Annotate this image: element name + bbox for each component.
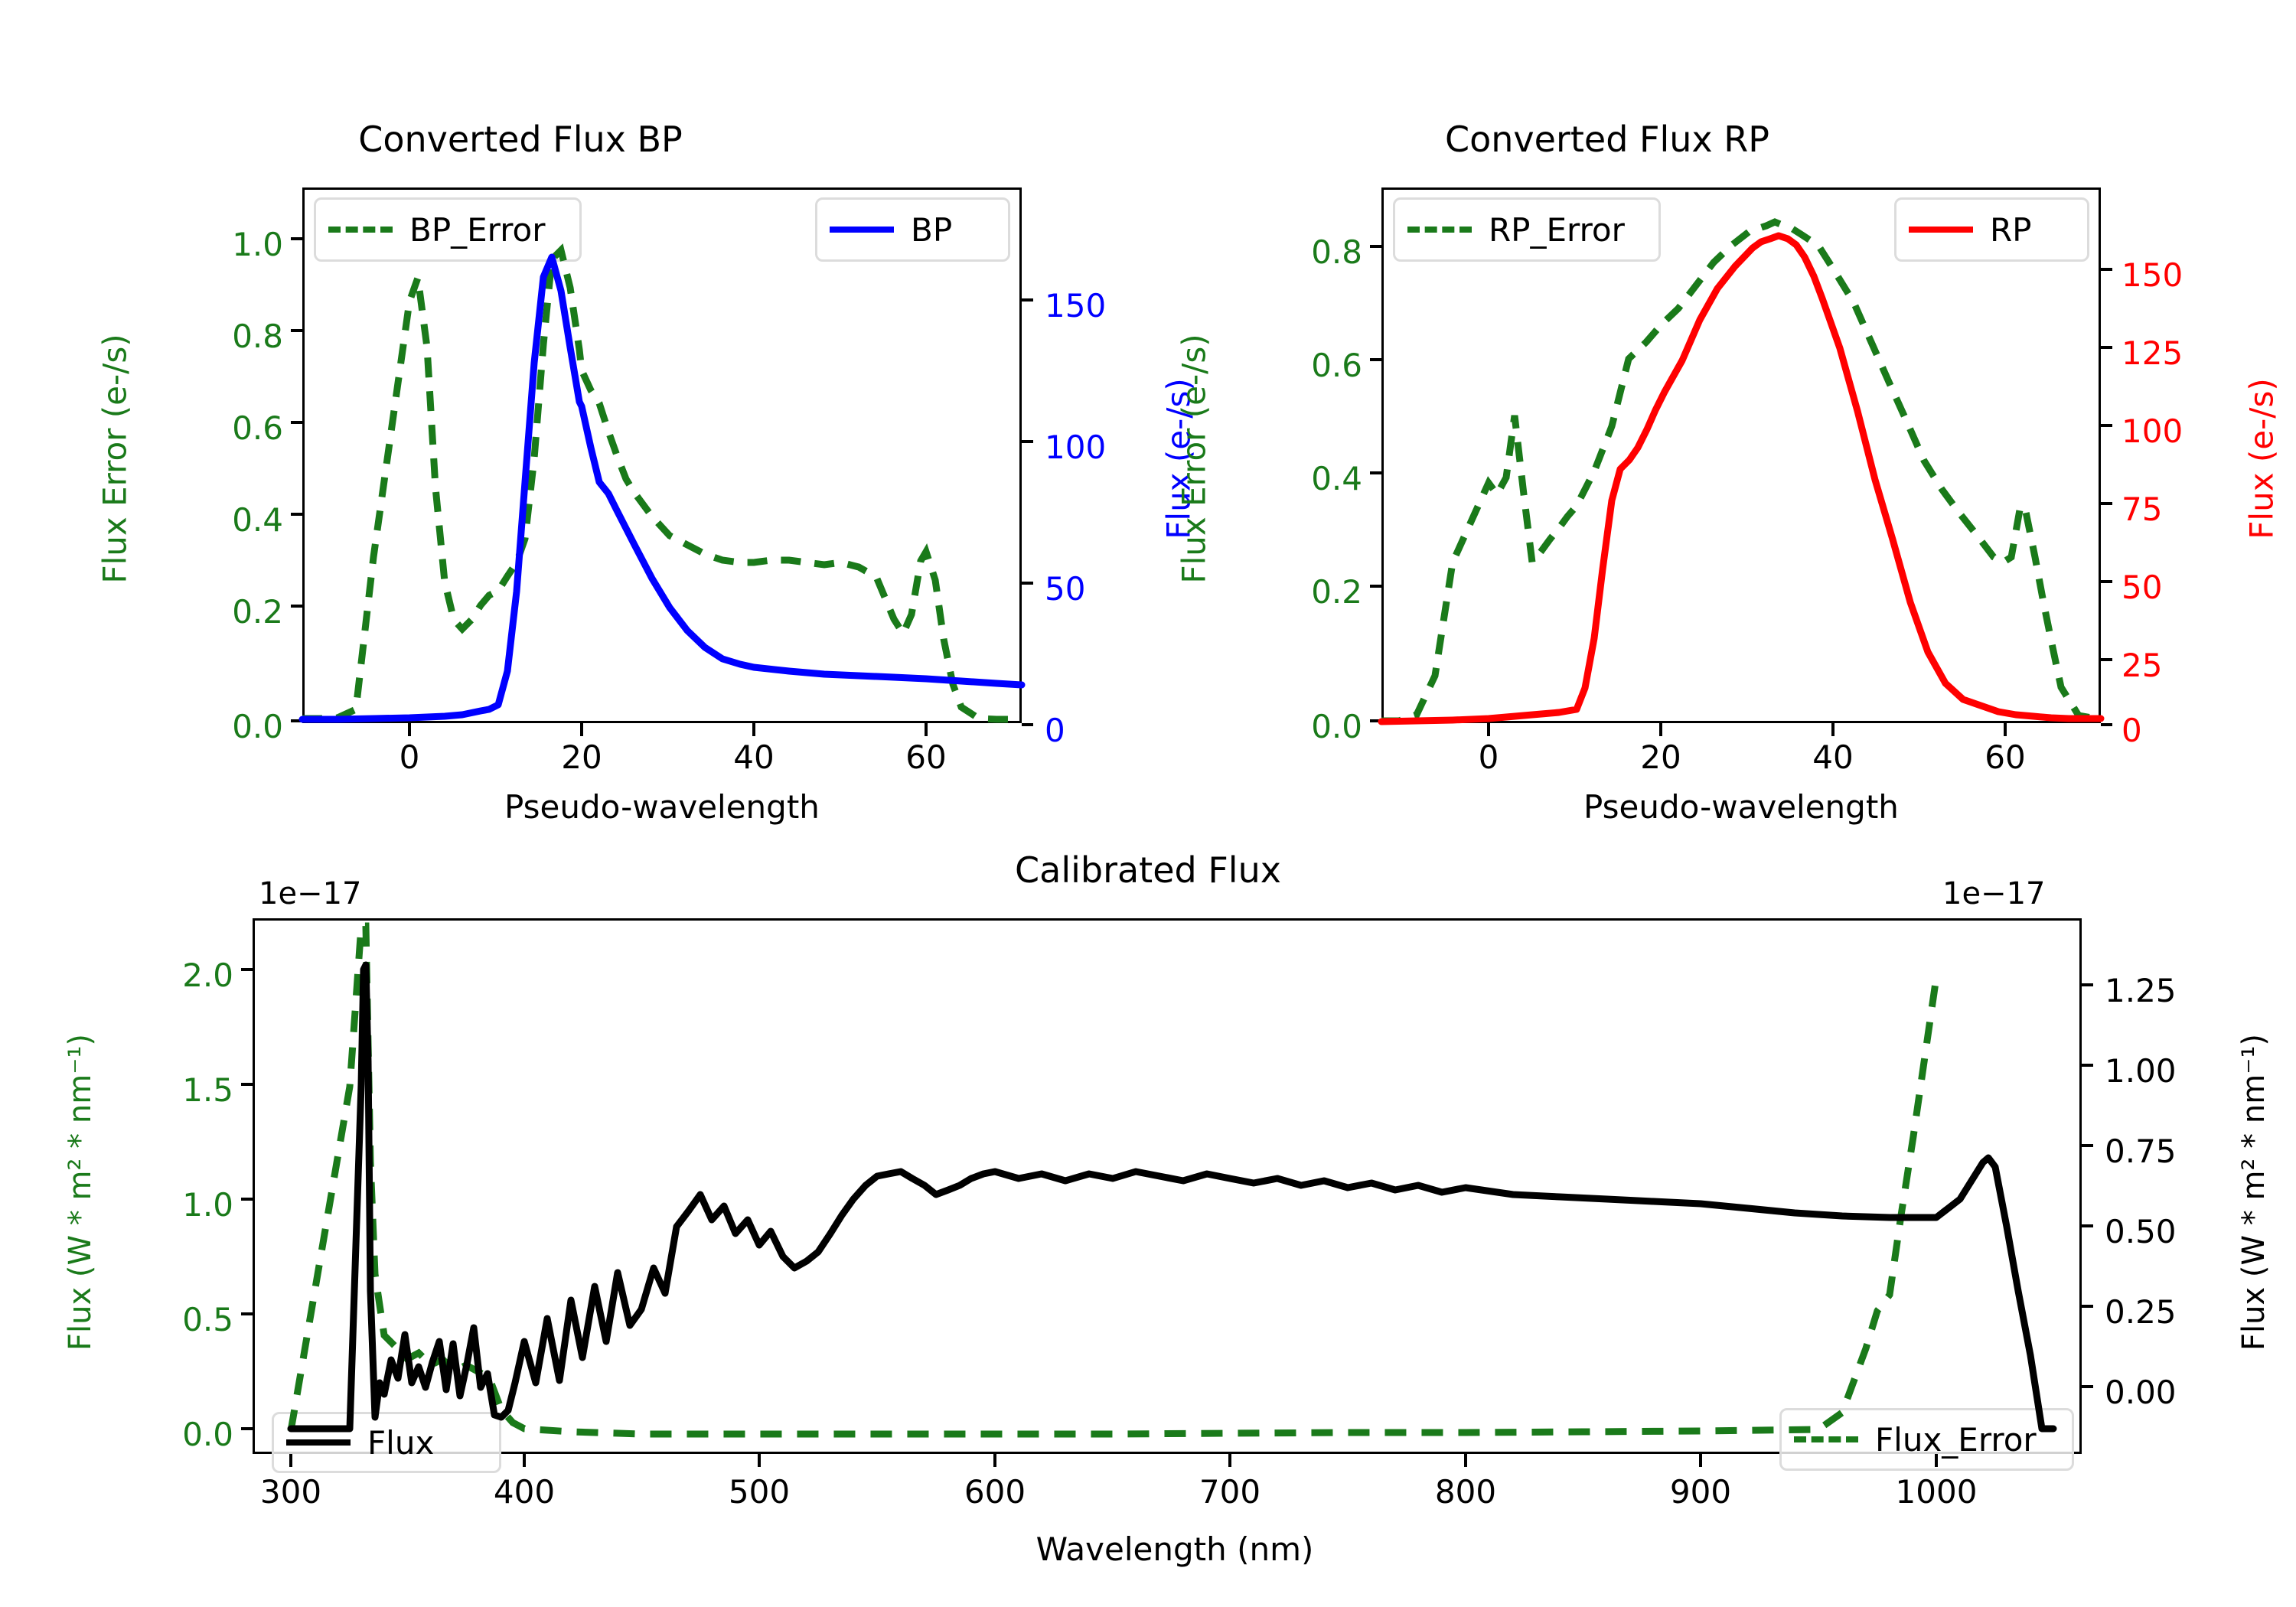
panel-calibrated-flux: Calibrated Flux 1e−17 1e−17 2.0 1.5 1.0 … xyxy=(0,819,2296,1607)
panel-converted-flux-rp: Converted Flux RP 0.8 0.6 0.4 0.2 0.0 Fl… xyxy=(1148,0,2296,819)
figure-canvas: Converted Flux BP 1.0 0.8 0.6 0.4 0.2 0.… xyxy=(0,0,2296,1607)
calibrated-curves xyxy=(0,819,2296,1607)
panel-converted-flux-bp: Converted Flux BP 1.0 0.8 0.6 0.4 0.2 0.… xyxy=(0,0,1148,819)
bp-flux-curve xyxy=(302,257,1022,719)
bp-tickmarks xyxy=(291,239,1033,736)
rp-curves xyxy=(1148,0,2296,819)
flux-curve xyxy=(291,965,2053,1429)
calibrated-tickmarks xyxy=(241,970,2093,1467)
bp-error-curve xyxy=(302,250,1022,719)
bp-curves xyxy=(0,0,1148,819)
rp-error-curve xyxy=(1381,222,2101,721)
